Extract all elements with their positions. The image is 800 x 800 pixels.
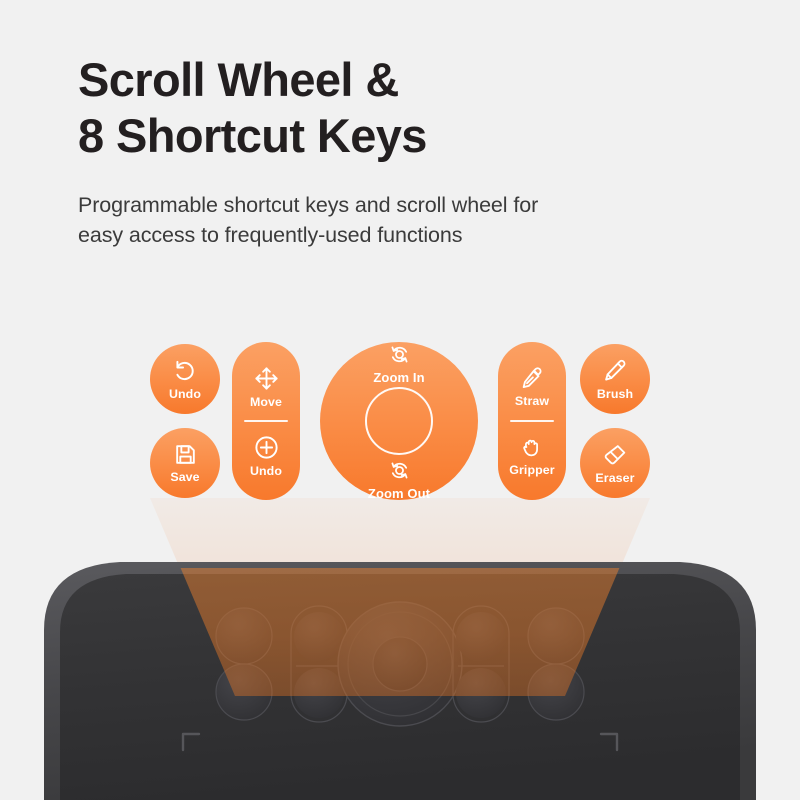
scroll-wheel-ring[interactable]: [365, 387, 433, 455]
eraser-icon: [602, 442, 628, 468]
shortcut-pill-right[interactable]: Straw Gripper: [498, 342, 566, 500]
shortcut-button-straw[interactable]: Straw: [498, 353, 566, 420]
header: Scroll Wheel & 8 Shortcut Keys Programma…: [78, 52, 738, 251]
zoom-out-rotate-icon: [387, 458, 412, 483]
shortcut-button-undo-plus[interactable]: Undo: [232, 422, 300, 489]
floppy-disk-icon: [173, 442, 198, 467]
shortcut-pill-left[interactable]: Move Undo: [232, 342, 300, 500]
shortcut-button-move[interactable]: Move: [232, 353, 300, 420]
drawing-tablet: [0, 556, 800, 800]
shortcut-label: Undo: [250, 465, 282, 477]
shortcut-label: Eraser: [595, 472, 634, 484]
shortcut-button-save[interactable]: Save: [150, 428, 220, 498]
page-subtitle: Programmable shortcut keys and scroll wh…: [78, 190, 738, 251]
move-four-arrows-icon: [253, 365, 280, 392]
zoom-in-group[interactable]: Zoom In: [373, 342, 424, 384]
plus-circle-icon: [253, 434, 280, 461]
page-title: Scroll Wheel & 8 Shortcut Keys: [78, 52, 738, 164]
shortcut-button-eraser[interactable]: Eraser: [580, 428, 650, 498]
eyedropper-icon: [519, 365, 545, 391]
shortcut-label: Move: [250, 396, 282, 408]
shortcut-button-undo[interactable]: Undo: [150, 344, 220, 414]
shortcut-label: Straw: [515, 395, 549, 407]
subtitle-line-2: easy access to frequently-used functions: [78, 220, 738, 251]
shortcut-scroll-wheel[interactable]: Zoom In Zoom Out: [320, 342, 478, 500]
subtitle-line-1: Programmable shortcut keys and scroll wh…: [78, 193, 538, 217]
undo-arrow-icon: [172, 358, 198, 384]
open-hand-icon: [519, 434, 545, 460]
title-line-1: Scroll Wheel &: [78, 53, 399, 106]
shortcut-overlay: Undo Save Move: [150, 342, 650, 500]
shortcut-label: Brush: [597, 388, 633, 400]
title-line-2: 8 Shortcut Keys: [78, 108, 738, 164]
zoom-in-rotate-icon: [387, 342, 412, 367]
zoom-in-label: Zoom In: [373, 371, 424, 384]
shortcut-button-brush[interactable]: Brush: [580, 344, 650, 414]
pencil-icon: [602, 358, 628, 384]
shortcut-label: Gripper: [509, 464, 554, 476]
shortcut-label: Save: [170, 471, 199, 483]
shortcut-button-gripper[interactable]: Gripper: [498, 422, 566, 489]
shortcut-label: Undo: [169, 388, 201, 400]
zoom-out-group[interactable]: Zoom Out: [368, 458, 430, 500]
zoom-out-label: Zoom Out: [368, 487, 430, 500]
